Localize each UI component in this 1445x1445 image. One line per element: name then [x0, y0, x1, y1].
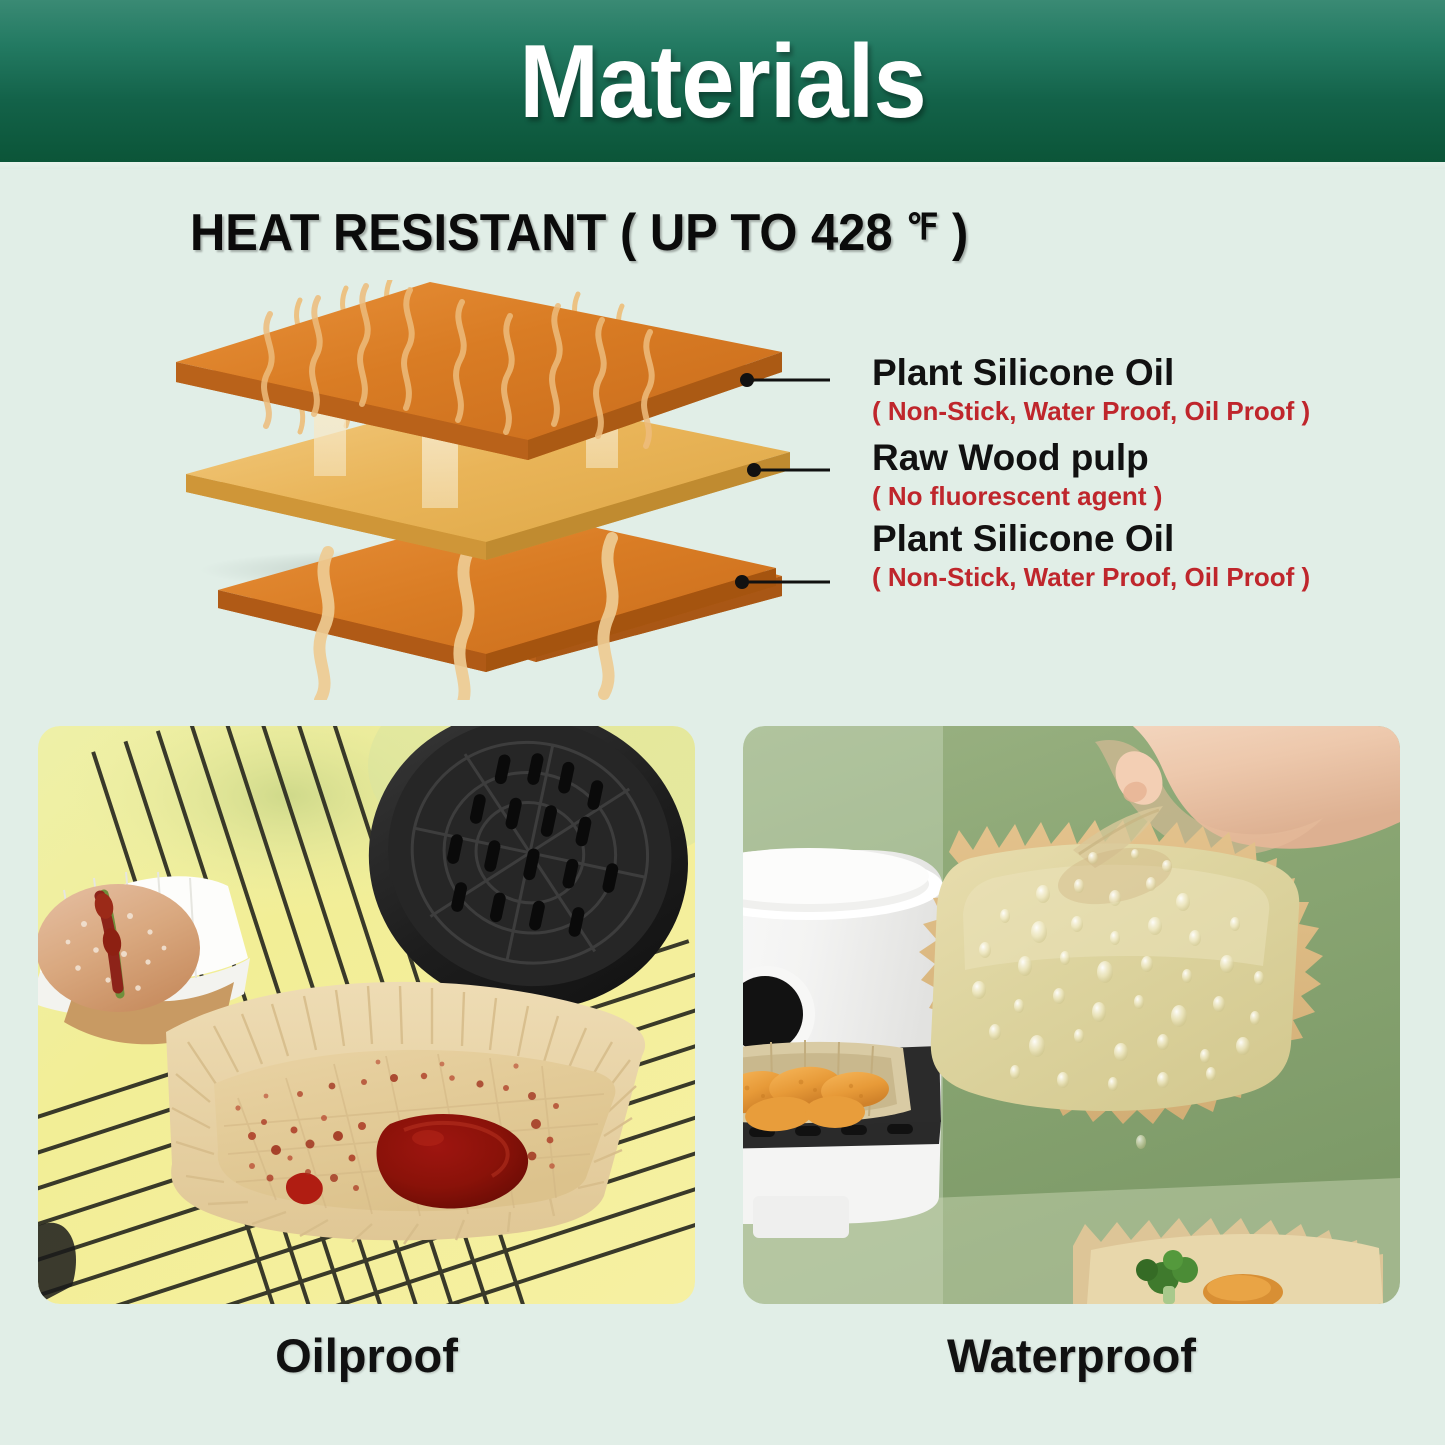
photo-oilproof-svg [38, 726, 695, 1304]
heat-resistant-suffix: ) [938, 204, 968, 262]
heat-resistant-prefix: HEAT RESISTANT ( UP TO 428 [190, 204, 906, 262]
infographic-page: Materials HEAT RESISTANT ( UP TO 428 ℉ ) [0, 0, 1445, 1445]
air-fryer [743, 848, 943, 1238]
parchment-liner-oilproof [166, 982, 645, 1244]
caption-oilproof: Oilproof [38, 1328, 695, 1384]
callout-title: Raw Wood pulp [872, 437, 1162, 479]
photo-oilproof [38, 726, 695, 1304]
layer-diagram [150, 280, 830, 700]
caption-waterproof: Waterproof [743, 1328, 1400, 1384]
callout-plant-silicone-oil-bottom: Plant Silicone Oil ( Non-Stick, Water Pr… [872, 518, 1310, 592]
degree-fahrenheit-symbol: ℉ [906, 206, 938, 247]
page-title: Materials [58, 26, 1387, 138]
callout-title: Plant Silicone Oil [872, 352, 1310, 394]
header-underline [0, 162, 1445, 169]
callout-plant-silicone-oil-top: Plant Silicone Oil ( Non-Stick, Water Pr… [872, 352, 1310, 426]
callout-subtitle: ( Non-Stick, Water Proof, Oil Proof ) [872, 396, 1310, 426]
callout-subtitle: ( Non-Stick, Water Proof, Oil Proof ) [872, 562, 1310, 592]
layer-diagram-svg [150, 280, 830, 700]
photo-waterproof-svg [743, 726, 1400, 1304]
photo-waterproof [743, 726, 1400, 1304]
callout-raw-wood-pulp: Raw Wood pulp ( No fluorescent agent ) [872, 437, 1162, 511]
heat-resistant-headline: HEAT RESISTANT ( UP TO 428 ℉ ) [190, 196, 968, 264]
callout-title: Plant Silicone Oil [872, 518, 1310, 560]
callout-subtitle: ( No fluorescent agent ) [872, 481, 1162, 511]
